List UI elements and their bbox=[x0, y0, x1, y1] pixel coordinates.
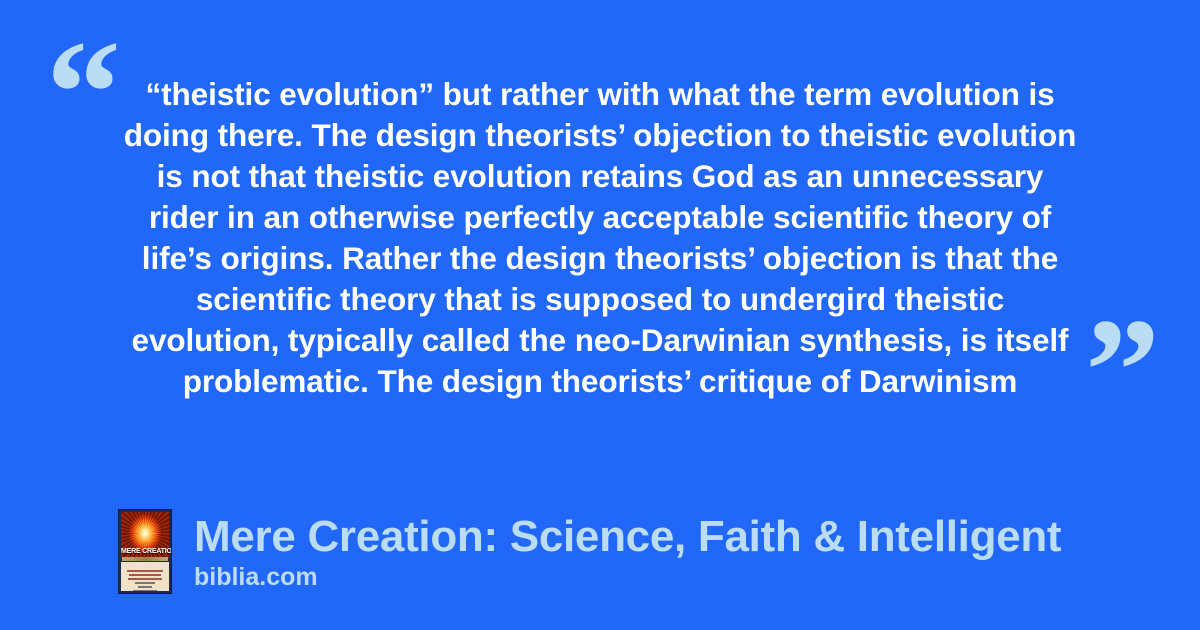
site-name: biblia.com bbox=[194, 562, 1061, 592]
quote-line: life’s origins. Rather the design theori… bbox=[110, 238, 1090, 279]
book-title: Mere Creation: Science, Faith & Intellig… bbox=[194, 513, 1061, 561]
quote-line: doing there. The design theorists’ objec… bbox=[110, 115, 1090, 156]
quote-text-block: “theistic evolution” but rather with wha… bbox=[110, 74, 1090, 402]
quote-line: evolution, typically called the neo-Darw… bbox=[110, 320, 1090, 361]
footer: MERE CREATION Mere Creation: Science, Fa… bbox=[118, 509, 1061, 594]
quote-line: problematic. The design theorists’ criti… bbox=[110, 361, 1090, 402]
opening-quote-icon: “ bbox=[46, 18, 119, 168]
quote-line: “theistic evolution” but rather with wha… bbox=[110, 74, 1090, 115]
book-cover-subtitle-bar bbox=[122, 557, 168, 561]
quote-line: rider in an otherwise perfectly acceptab… bbox=[110, 197, 1090, 238]
book-cover-lower-panel bbox=[121, 562, 169, 591]
quote-line: scientific theory that is supposed to un… bbox=[110, 279, 1090, 320]
footer-text-group: Mere Creation: Science, Faith & Intellig… bbox=[194, 509, 1061, 592]
book-cover-text-line bbox=[128, 578, 162, 580]
book-cover-text-line bbox=[127, 570, 163, 572]
closing-quote-icon: ” bbox=[1085, 296, 1158, 446]
book-cover-text-line bbox=[135, 582, 154, 584]
book-cover-thumbnail: MERE CREATION bbox=[118, 509, 172, 594]
quote-line: is not that theistic evolution retains G… bbox=[110, 156, 1090, 197]
book-cover-title: MERE CREATION bbox=[121, 548, 169, 555]
quote-card: “ “theistic evolution” but rather with w… bbox=[0, 0, 1200, 630]
book-cover-text-line bbox=[133, 590, 158, 592]
book-cover-text-line bbox=[129, 574, 161, 576]
book-cover-text-line bbox=[138, 586, 152, 588]
